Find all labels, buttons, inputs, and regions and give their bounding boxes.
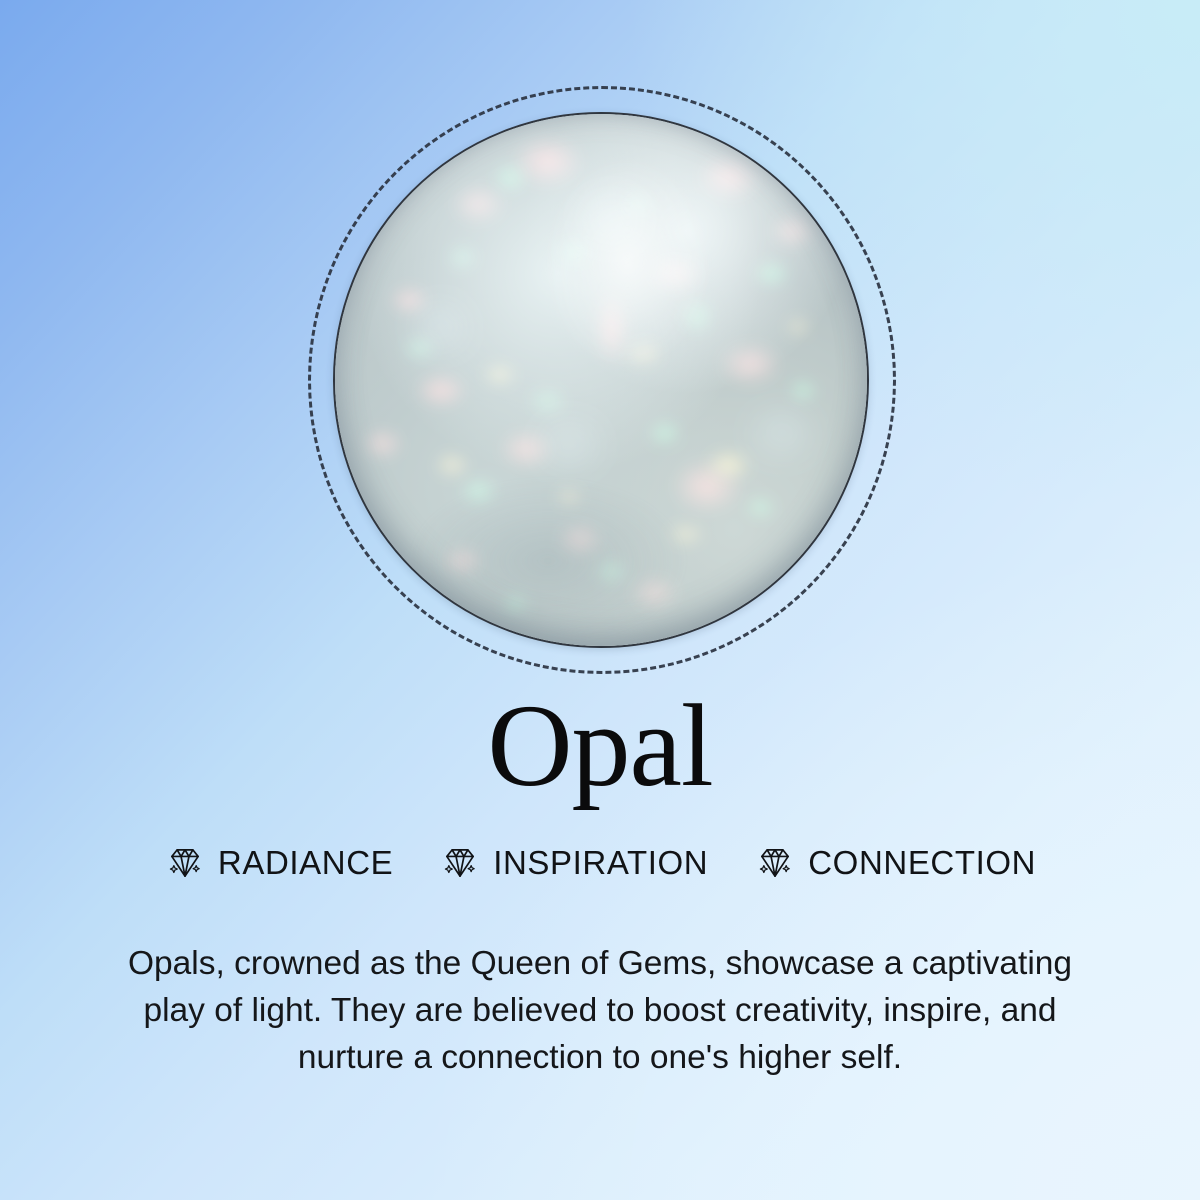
description-line-1: Opals, crowned as the Queen of Gems, sho… [100, 940, 1100, 987]
attribute-item-radiance: RADIANCE [164, 842, 393, 884]
gemstone-figure [308, 86, 896, 674]
opal-gemstone-card: Opal RADIANCE [0, 0, 1200, 1200]
description-text: Opals, crowned as the Queen of Gems, sho… [100, 940, 1100, 1081]
attribute-item-inspiration: INSPIRATION [439, 842, 708, 884]
opal-rim-shading [335, 114, 867, 646]
page-title: Opal [0, 686, 1200, 806]
attribute-item-connection: CONNECTION [754, 842, 1036, 884]
diamond-icon [754, 842, 796, 884]
attribute-label: CONNECTION [808, 844, 1036, 882]
attribute-label: INSPIRATION [493, 844, 708, 882]
description-line-2: play of light. They are believed to boos… [100, 987, 1100, 1034]
description-line-3: nurture a connection to one's higher sel… [100, 1034, 1100, 1081]
attribute-label: RADIANCE [218, 844, 393, 882]
diamond-icon [164, 842, 206, 884]
attribute-list: RADIANCE INSPIRATION [0, 842, 1200, 884]
opal-stone-image [333, 112, 869, 648]
diamond-icon [439, 842, 481, 884]
